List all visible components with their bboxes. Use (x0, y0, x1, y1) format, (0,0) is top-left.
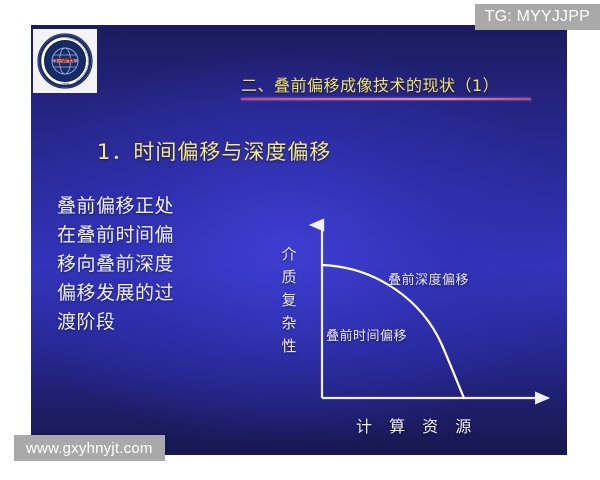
slide-title-block: 二、叠前偏移成像技术的现状（1） (241, 76, 541, 100)
presentation-slide: 中国石油大学 CHINA UNIVERSITY OF PETROLEUM 195… (31, 25, 567, 455)
page-title: 二、叠前偏移成像技术的现状（1） (241, 76, 541, 96)
slide-subtitle: 1．时间偏移与深度偏移 (97, 138, 331, 166)
y-axis-label: 介质复杂性 (278, 243, 300, 358)
svg-text:中国石油大学: 中国石油大学 (52, 57, 77, 64)
slide-body-text: 叠前偏移正处在叠前时间偏移向叠前深度偏移发展的过渡阶段 (57, 192, 189, 337)
title-underline (241, 98, 531, 100)
curve-annotation-depth-migration: 叠前深度偏移 (388, 269, 469, 288)
x-axis-label: 计 算 资 源 (356, 413, 477, 437)
tradeoff-chart: 介质复杂性 计 算 资 源 叠前深度偏移 叠前时间偏移 (226, 185, 556, 435)
watermark-top-right: TG: MYYJJPP (475, 4, 600, 30)
svg-text:1956: 1956 (61, 82, 69, 86)
university-logo: 中国石油大学 CHINA UNIVERSITY OF PETROLEUM 195… (33, 29, 97, 93)
watermark-bottom-left: www.gxyhnyjt.com (14, 435, 165, 461)
curve-annotation-time-migration: 叠前时间偏移 (326, 325, 407, 344)
